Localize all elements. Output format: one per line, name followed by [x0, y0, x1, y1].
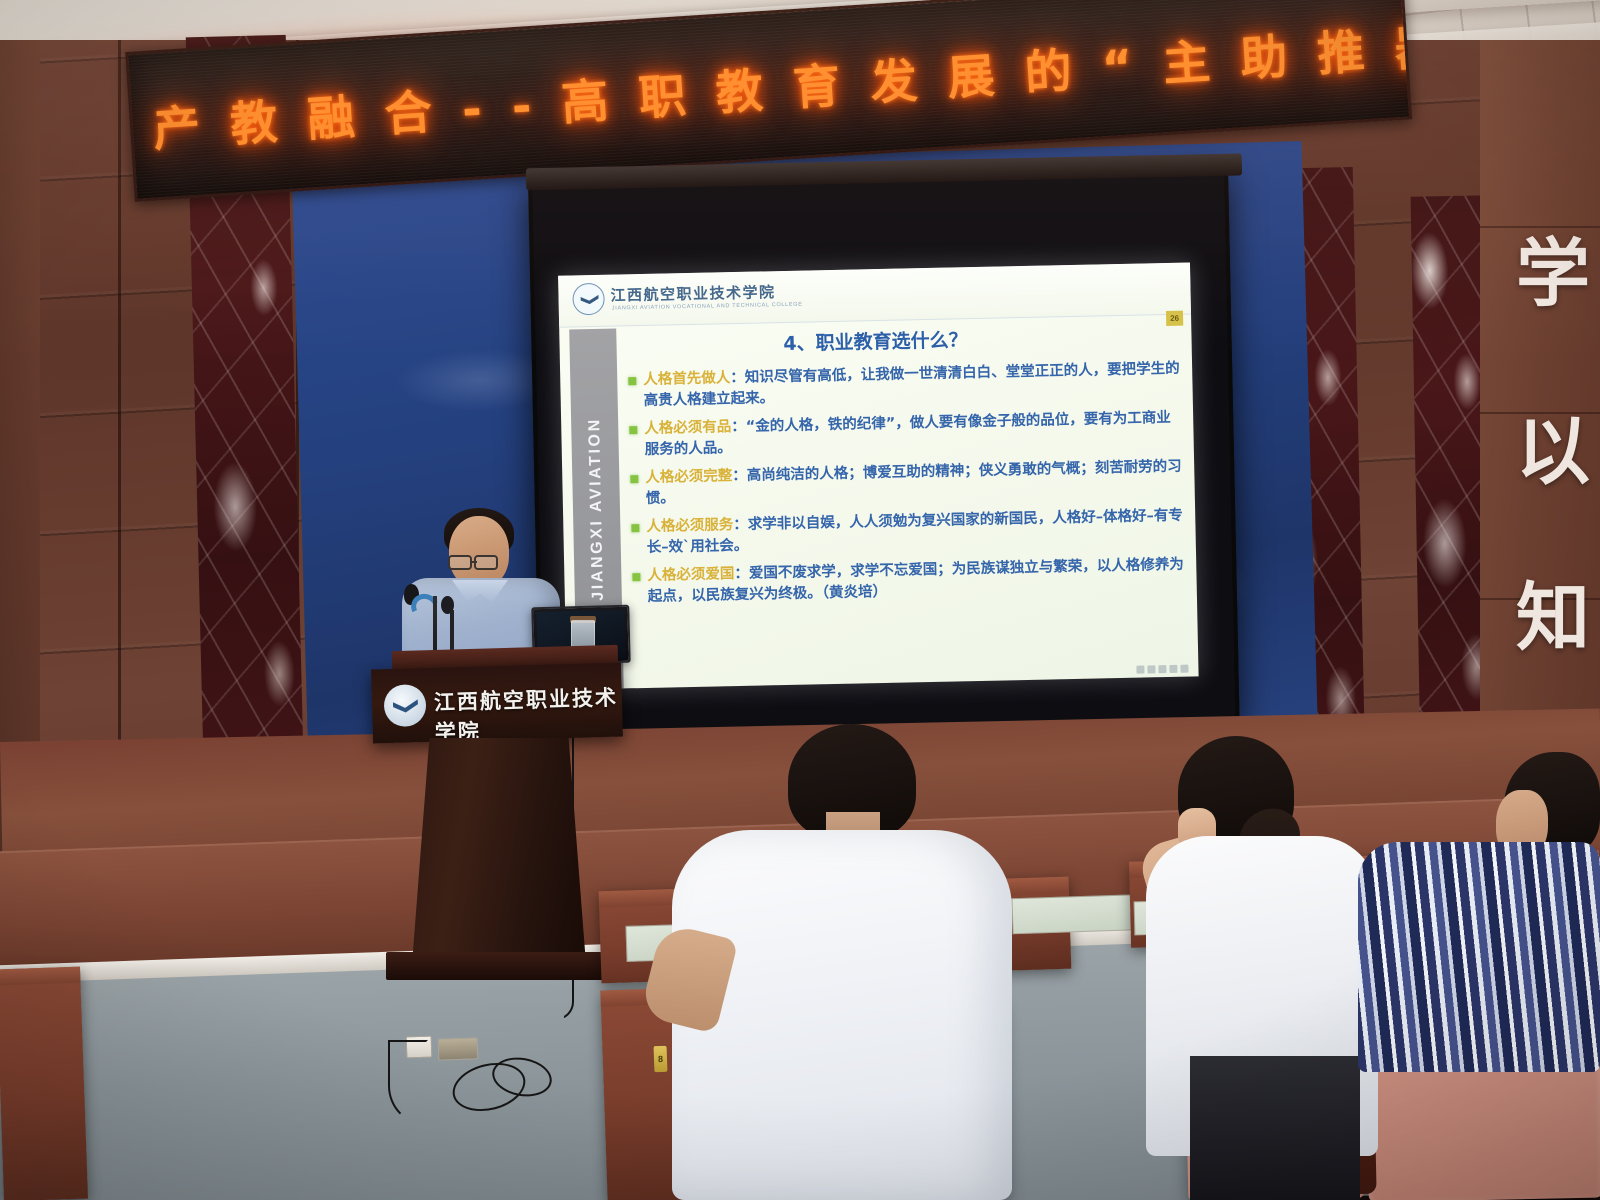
bird-wing-icon	[580, 295, 598, 304]
audience-member-3-patterned-top	[1358, 842, 1600, 1072]
presentation-toolbar-icons	[1136, 665, 1188, 674]
toolbar-icon-2	[1147, 665, 1155, 673]
seat-number-tag: 8	[654, 1046, 668, 1072]
bullet-square-icon	[629, 426, 637, 434]
desk-surface	[0, 967, 80, 986]
bullet-square-icon	[630, 475, 638, 483]
bullet-square-icon	[632, 573, 640, 581]
slide-bullet-list: 人格首先做人：知识尽管有高低，让我做一世清清白白、堂堂正正的人，要把学生的高贵人…	[628, 359, 1185, 616]
college-logo-icon	[572, 283, 605, 316]
toolbar-icon-5	[1180, 665, 1188, 673]
wall-character-3: 知	[1516, 558, 1590, 665]
toolbar-icon-3	[1158, 665, 1166, 673]
podium-base	[412, 738, 586, 964]
slide-bullet-item: 人格必须爱国：爱国不废求学，求学不忘爱国；为民族谋独立与繁荣，以人格修养为起点，…	[632, 555, 1185, 609]
slide-header: 江西航空职业技术学院 JIANGXI AVIATION VOCATIONAL A…	[558, 262, 1191, 327]
podium-bird-wing-icon	[393, 699, 418, 713]
audience-desk-front-left	[0, 967, 88, 1200]
bullet-square-icon	[628, 377, 636, 385]
podium-foot	[386, 952, 614, 980]
wall-character-1: 学	[1516, 214, 1590, 321]
slide-title: 4、职业教育选什么？	[559, 320, 1191, 360]
toolbar-icon-1	[1136, 666, 1144, 674]
projection-screen: 江西航空职业技术学院 JIANGXI AVIATION VOCATIONAL A…	[528, 166, 1240, 741]
slide-bullet-item: 人格首先做人：知识尽管有高低，让我做一世清清白白、堂堂正正的人，要把学生的高贵人…	[628, 359, 1181, 413]
presentation-slide: 江西航空职业技术学院 JIANGXI AVIATION VOCATIONAL A…	[558, 262, 1199, 689]
bullet-key: 人格必须完整	[645, 468, 732, 486]
slide-bullet-item: 人格必须完整：高尚纯洁的人格；博爱互助的精神；侠义勇敢的气概；刻苦耐劳的习惯。	[630, 457, 1183, 511]
lecture-hall-photo: 学 以 知 道 产 教 融 合 - - 高 职 教 育 发 展 的 “ 主 助 …	[0, 0, 1600, 1200]
power-outlet-metal	[438, 1037, 479, 1060]
bullet-key: 人格必须服务	[646, 517, 733, 535]
bullet-key: 人格必须有品	[644, 419, 731, 437]
speaker-glasses-right-lens	[474, 555, 498, 570]
bullet-key: 人格必须爱国	[647, 566, 734, 584]
slide-bullet-item: 人格必须服务：求学非以自娱，人人须勉为复兴国家的新国民，人格好–体格好–有专长–…	[631, 506, 1184, 560]
slide-bullet-item: 人格必须有品：“金的人格，铁的纪律”，做人要有像金子般的品位，要有为工商业服务的…	[629, 408, 1182, 462]
bullet-square-icon	[631, 524, 639, 532]
speaker-glasses-bridge	[471, 561, 477, 563]
toolbar-icon-4	[1169, 665, 1177, 673]
podium-college-name: 江西航空职业技术学院	[434, 682, 624, 747]
side-banner-main-text: JIANGXI AVIATION	[586, 417, 608, 601]
podium-front-panel: 江西航空职业技术学院	[371, 663, 623, 744]
audience-member-1-shirt	[672, 830, 1012, 1200]
podium-college-logo-icon	[383, 684, 426, 727]
speaker-glasses-left-lens	[448, 555, 472, 570]
audience-member-2-skirt	[1190, 1056, 1360, 1200]
bullet-key: 人格首先做人	[643, 370, 730, 388]
wall-character-2: 以	[1516, 392, 1590, 499]
